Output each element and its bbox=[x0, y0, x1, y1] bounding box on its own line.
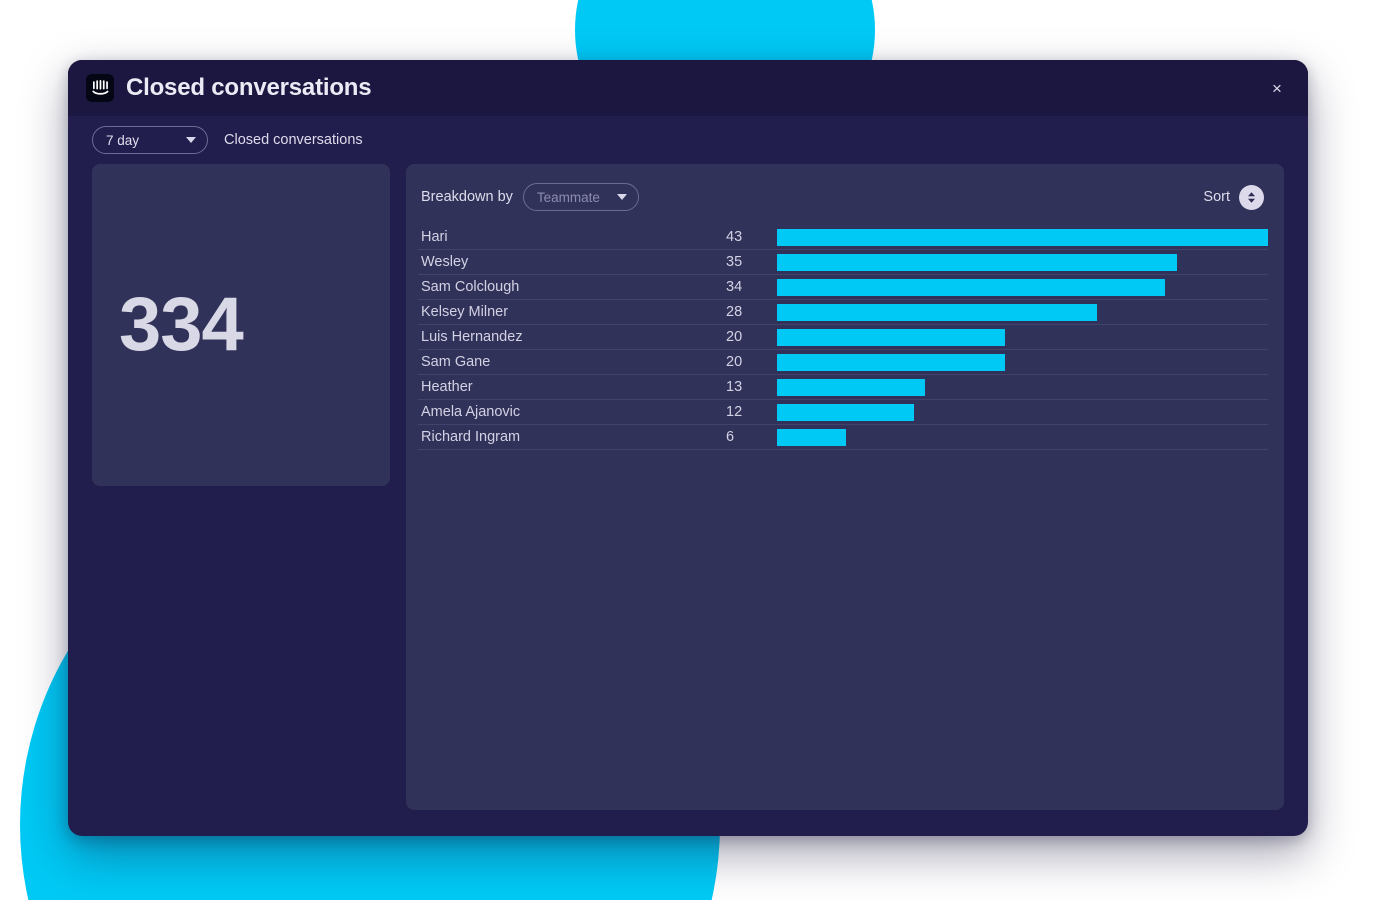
row-value: 6 bbox=[726, 429, 777, 445]
chevron-down-icon bbox=[186, 137, 196, 143]
close-icon[interactable]: × bbox=[1264, 75, 1290, 101]
row-label: Hari bbox=[421, 229, 726, 245]
row-bar bbox=[777, 404, 914, 421]
toolbar: 7 day Closed conversations bbox=[68, 116, 1308, 164]
date-range-value: 7 day bbox=[106, 133, 139, 148]
breakdown-dimension-select[interactable]: Teammate bbox=[523, 183, 639, 211]
table-row[interactable]: Luis Hernandez20 bbox=[418, 325, 1268, 350]
date-range-select[interactable]: 7 day bbox=[92, 126, 208, 154]
row-label: Richard Ingram bbox=[421, 429, 726, 445]
row-bar bbox=[777, 354, 1005, 371]
row-value: 43 bbox=[726, 229, 777, 245]
row-bar bbox=[777, 229, 1268, 246]
row-bar bbox=[777, 379, 925, 396]
row-label: Sam Gane bbox=[421, 354, 726, 370]
page-title: Closed conversations bbox=[126, 74, 371, 102]
row-label: Amela Ajanovic bbox=[421, 404, 726, 420]
row-value: 34 bbox=[726, 279, 777, 295]
row-value: 12 bbox=[726, 404, 777, 420]
sort-updown-icon bbox=[1239, 185, 1264, 210]
table-row[interactable]: Heather13 bbox=[418, 375, 1268, 400]
breakdown-by-label: Breakdown by bbox=[421, 189, 513, 205]
metric-label: Closed conversations bbox=[224, 132, 363, 148]
row-bar-track bbox=[777, 400, 1268, 425]
row-label: Heather bbox=[421, 379, 726, 395]
row-bar-track bbox=[777, 275, 1268, 300]
table-row[interactable]: Wesley35 bbox=[418, 250, 1268, 275]
sort-button[interactable]: Sort bbox=[1203, 185, 1264, 210]
row-value: 13 bbox=[726, 379, 777, 395]
row-bar-track bbox=[777, 325, 1268, 350]
row-bar-track bbox=[777, 375, 1268, 400]
row-bar-track bbox=[777, 350, 1268, 375]
table-row[interactable]: Hari43 bbox=[418, 225, 1268, 250]
breakdown-panel: Breakdown by Teammate Sort Hari43Wesley3… bbox=[406, 164, 1284, 810]
table-row[interactable]: Amela Ajanovic12 bbox=[418, 400, 1268, 425]
table-row[interactable]: Sam Gane20 bbox=[418, 350, 1268, 375]
breakdown-dimension-value: Teammate bbox=[537, 190, 600, 205]
modal-body: 334 Breakdown by Teammate Sort bbox=[68, 164, 1308, 836]
row-bar-track bbox=[777, 300, 1268, 325]
table-row[interactable]: Richard Ingram6 bbox=[418, 425, 1268, 450]
row-label: Sam Colclough bbox=[421, 279, 726, 295]
summary-metric-value: 334 bbox=[119, 287, 243, 363]
row-value: 20 bbox=[726, 329, 777, 345]
sort-label: Sort bbox=[1203, 189, 1230, 205]
row-bar-track bbox=[777, 250, 1268, 275]
row-label: Wesley bbox=[421, 254, 726, 270]
summary-metric-panel: 334 bbox=[92, 164, 390, 486]
table-row[interactable]: Kelsey Milner28 bbox=[418, 300, 1268, 325]
closed-conversations-modal: Closed conversations × 7 day Closed conv… bbox=[68, 60, 1308, 836]
row-label: Kelsey Milner bbox=[421, 304, 726, 320]
row-bar bbox=[777, 329, 1005, 346]
chevron-down-icon bbox=[617, 194, 627, 200]
row-bar-track bbox=[777, 425, 1268, 450]
intercom-logo-icon bbox=[86, 74, 114, 102]
row-value: 20 bbox=[726, 354, 777, 370]
table-row[interactable]: Sam Colclough34 bbox=[418, 275, 1268, 300]
row-bar bbox=[777, 279, 1165, 296]
breakdown-header: Breakdown by Teammate Sort bbox=[418, 180, 1268, 214]
row-value: 35 bbox=[726, 254, 777, 270]
breakdown-rows: Hari43Wesley35Sam Colclough34Kelsey Miln… bbox=[418, 225, 1268, 450]
row-bar-track bbox=[777, 225, 1268, 250]
row-label: Luis Hernandez bbox=[421, 329, 726, 345]
row-bar bbox=[777, 304, 1097, 321]
row-value: 28 bbox=[726, 304, 777, 320]
row-bar bbox=[777, 429, 846, 446]
modal-header: Closed conversations × bbox=[68, 60, 1308, 116]
row-bar bbox=[777, 254, 1177, 271]
